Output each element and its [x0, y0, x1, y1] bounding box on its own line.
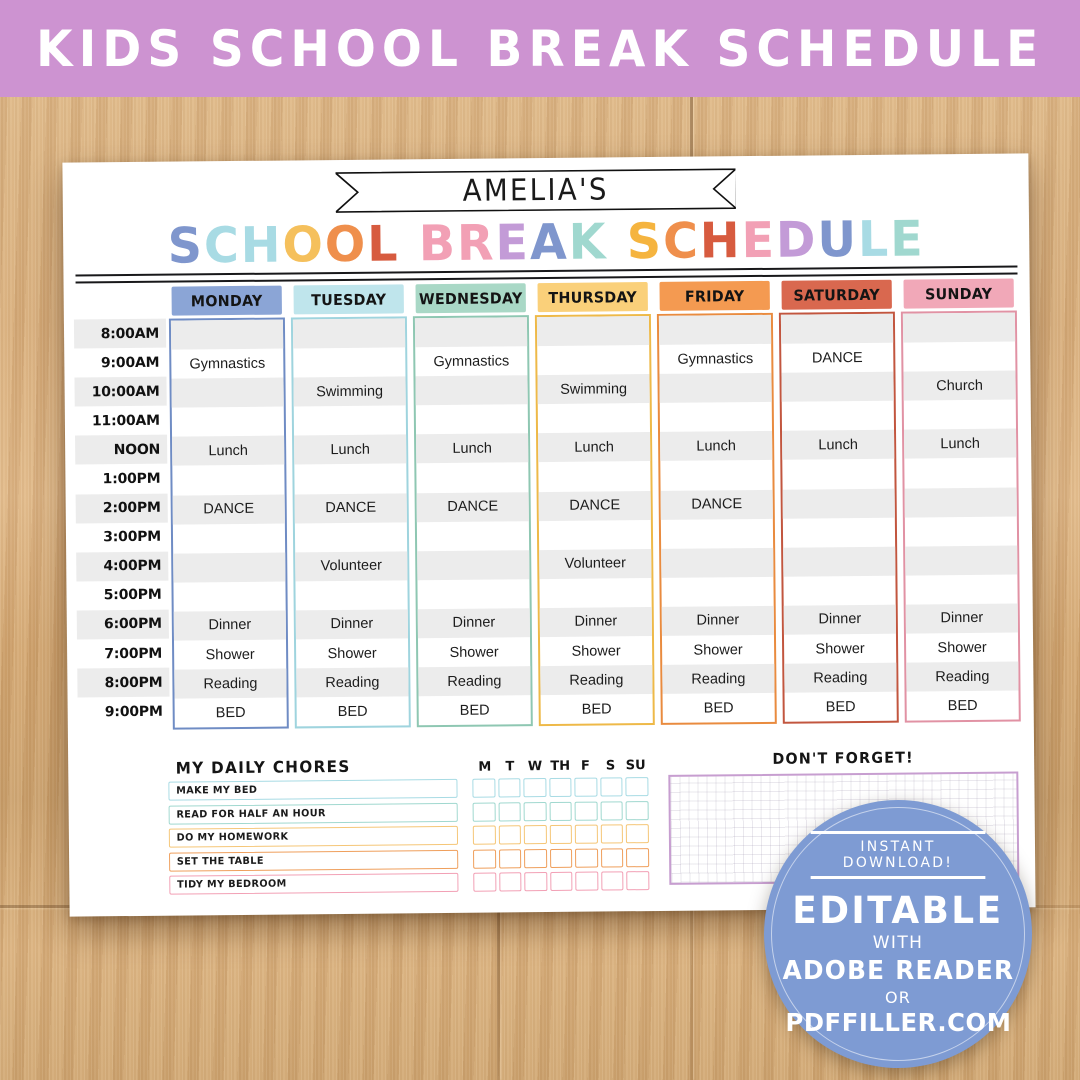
badge-or: OR [885, 988, 911, 1007]
schedule-cell[interactable]: Swimming [537, 374, 649, 404]
time-label-6: 2:00PM [76, 493, 168, 523]
time-label-12: 8:00PM [77, 668, 169, 698]
schedule-cell[interactable]: DANCE [295, 493, 407, 523]
chore-checkbox-1-th[interactable] [549, 802, 572, 821]
title-letter-7: B [419, 215, 458, 272]
schedule-cell[interactable] [294, 464, 406, 494]
chore-checkbox-2-f[interactable] [575, 825, 598, 844]
schedule-cell[interactable] [295, 580, 407, 610]
chore-checkbox-2-th[interactable] [550, 825, 573, 844]
schedule-cell[interactable]: Swimming [293, 377, 405, 407]
schedule-cell[interactable] [783, 517, 895, 547]
schedule-cell[interactable]: DANCE [417, 492, 529, 522]
schedule-cell[interactable] [173, 581, 285, 611]
schedule-cell[interactable]: Reading [418, 666, 530, 696]
schedule-cell[interactable] [782, 459, 894, 489]
chore-checkbox-3-su[interactable] [626, 848, 649, 867]
schedule-cell[interactable] [539, 578, 651, 608]
schedule-cell[interactable] [293, 347, 405, 377]
time-label-0: 8:00AM [74, 319, 166, 349]
time-label-7: 3:00PM [76, 522, 168, 552]
day-column-friday: GymnasticsLunchDANCEDinnerShowerReadingB… [657, 313, 777, 725]
chore-checkbox-group [473, 801, 649, 822]
day-header-wednesday[interactable]: WEDNESDAY [415, 283, 525, 313]
day-header-friday[interactable]: FRIDAY [659, 281, 769, 311]
chore-label-0[interactable]: MAKE MY BED [168, 779, 457, 801]
schedule-cell[interactable] [781, 372, 893, 402]
chore-checkbox-0-t[interactable] [498, 779, 521, 798]
schedule-cell[interactable] [538, 403, 650, 433]
schedule-cell[interactable] [172, 465, 284, 495]
chore-checkbox-3-w[interactable] [524, 849, 547, 868]
schedule-cell[interactable] [660, 460, 772, 490]
schedule-cell[interactable]: Reading [174, 669, 286, 699]
schedule-cell[interactable]: Dinner [418, 608, 530, 638]
schedule-cell[interactable] [659, 373, 771, 403]
title-letter-5: L [367, 215, 400, 272]
chore-row: MAKE MY BED [168, 777, 648, 801]
day-header-thursday[interactable]: THURSDAY [537, 282, 647, 312]
top-banner-title: KIDS SCHOOL BREAK SCHEDULE [36, 20, 1044, 78]
schedule-cell[interactable]: Dinner [296, 609, 408, 639]
badge-pdffiller-site: PDFFILLER.COM [785, 1008, 1011, 1037]
schedule-cell[interactable] [416, 404, 528, 434]
time-header-spacer [74, 287, 166, 317]
schedule-cell[interactable]: Gymnastics [171, 349, 283, 379]
chore-day-label-t: T [497, 759, 522, 774]
schedule-cell[interactable]: BED [663, 693, 775, 723]
title-letter-4: O [325, 216, 368, 273]
chore-checkbox-0-s[interactable] [600, 778, 623, 797]
title-letter-13: S [627, 213, 664, 270]
schedule-cell[interactable] [171, 320, 283, 350]
title-letter-9: E [495, 214, 530, 271]
chore-checkbox-1-m[interactable] [473, 802, 496, 821]
chore-label-1[interactable]: READ FOR HALF AN HOUR [169, 803, 458, 825]
schedule-cell[interactable]: Lunch [782, 430, 894, 460]
schedule-cell[interactable]: Dinner [540, 607, 652, 637]
chore-row: READ FOR HALF AN HOUR [169, 801, 649, 825]
schedule-cell[interactable]: BED [419, 695, 531, 725]
schedule-cell[interactable]: Dinner [174, 610, 286, 640]
chores-rows: MAKE MY BEDREAD FOR HALF AN HOURDO MY HO… [168, 777, 649, 894]
day-header-sunday[interactable]: SUNDAY [903, 279, 1013, 309]
title-letter-3: O [282, 216, 325, 273]
chore-day-label-m: M [472, 760, 497, 775]
schedule-cell[interactable] [661, 577, 773, 607]
schedule-cell[interactable]: Lunch [660, 431, 772, 461]
chore-checkbox-3-s[interactable] [601, 848, 624, 867]
instant-download-badge: INSTANT DOWNLOAD! EDITABLE WITH ADOBE RE… [764, 800, 1032, 1068]
schedule-cell[interactable]: Lunch [904, 429, 1016, 459]
schedule-cell[interactable]: Lunch [294, 435, 406, 465]
chore-checkbox-0-m[interactable] [472, 779, 495, 798]
schedule-cell[interactable]: Gymnastics [659, 344, 771, 374]
schedule-cell[interactable] [537, 316, 649, 346]
chore-checkbox-2-su[interactable] [626, 824, 649, 843]
day-column-wednesday: GymnasticsLunchDANCEDinnerShowerReadingB… [413, 315, 533, 727]
schedule-cell[interactable] [417, 521, 529, 551]
schedule-cell[interactable] [171, 378, 283, 408]
schedule-cell[interactable]: DANCE [781, 343, 893, 373]
schedule-cell[interactable]: Shower [174, 640, 286, 670]
chore-label-2[interactable]: DO MY HOMEWORK [169, 826, 458, 848]
chore-label-3[interactable]: SET THE TABLE [169, 849, 458, 871]
screenshot-root: KIDS SCHOOL BREAK SCHEDULE AMELIA'S SCHO… [0, 0, 1080, 1080]
schedule-cell[interactable] [173, 552, 285, 582]
title-letter-8: R [457, 215, 496, 272]
title-letter-0: S [167, 217, 204, 274]
schedule-cell[interactable]: Dinner [662, 606, 774, 636]
time-column: 8:00AM9:00AM10:00AM11:00AMNOON1:00PM2:00… [74, 319, 170, 731]
title-letter-10: A [530, 214, 569, 271]
schedule-cell[interactable] [295, 522, 407, 552]
chore-checkbox-group [472, 777, 648, 798]
schedule-cell[interactable]: Shower [540, 636, 652, 666]
time-label-11: 7:00PM [77, 639, 169, 669]
schedule-body: 8:00AM9:00AM10:00AM11:00AMNOON1:00PM2:00… [74, 310, 1024, 730]
chore-day-label-f: F [573, 759, 598, 774]
chores-title: MY DAILY CHORES [176, 756, 461, 778]
chore-checkbox-2-s[interactable] [601, 824, 624, 843]
chore-day-label-th: TH [548, 759, 573, 774]
chore-row: DO MY HOMEWORK [169, 824, 649, 848]
chore-checkbox-4-f[interactable] [576, 871, 599, 890]
time-label-1: 9:00AM [74, 348, 166, 378]
chore-checkbox-group [473, 871, 649, 892]
chore-day-label-s: S [598, 758, 623, 773]
schedule-cell[interactable]: BED [907, 691, 1019, 721]
time-label-5: 1:00PM [75, 464, 167, 494]
badge-adobe-reader: ADOBE READER [782, 956, 1014, 986]
name-ribbon: AMELIA'S [336, 168, 736, 213]
top-banner: KIDS SCHOOL BREAK SCHEDULE [0, 0, 1080, 97]
schedule-cell[interactable]: Dinner [906, 603, 1018, 633]
chore-checkbox-2-t[interactable] [498, 825, 521, 844]
chore-day-label-su: SU [623, 758, 648, 773]
schedule-cell[interactable] [781, 314, 893, 344]
schedule-cell[interactable]: Lunch [172, 436, 284, 466]
chore-checkbox-1-s[interactable] [600, 801, 623, 820]
chore-day-label-w: W [522, 759, 547, 774]
schedule-cell[interactable] [905, 487, 1017, 517]
chore-checkbox-3-m[interactable] [473, 849, 496, 868]
schedule-cell[interactable] [905, 545, 1017, 575]
day-header-monday[interactable]: MONDAY [171, 286, 281, 316]
schedule-cell[interactable]: DANCE [661, 489, 773, 519]
chore-checkbox-0-w[interactable] [523, 778, 546, 797]
chore-checkbox-4-t[interactable] [499, 872, 522, 891]
schedule-cell[interactable]: Shower [662, 635, 774, 665]
schedule-cell[interactable]: DANCE [539, 491, 651, 521]
time-label-4: NOON [75, 435, 167, 465]
time-label-8: 4:00PM [76, 551, 168, 581]
schedule-cell[interactable] [417, 579, 529, 609]
chore-checkbox-3-f[interactable] [575, 848, 598, 867]
schedule-cell[interactable] [294, 406, 406, 436]
schedule-cell[interactable]: Gymnastics [415, 346, 527, 376]
schedule-cell[interactable]: Reading [540, 665, 652, 695]
day-column-tuesday: SwimmingLunchDANCEVolunteerDinnerShowerR… [291, 316, 411, 728]
chore-checkbox-1-su[interactable] [626, 801, 649, 820]
schedule-cell[interactable]: BED [175, 698, 287, 728]
schedule-cell[interactable]: Reading [784, 663, 896, 693]
schedule-cell[interactable]: Shower [906, 633, 1018, 663]
schedule-cell[interactable] [539, 520, 651, 550]
badge-with: WITH [873, 933, 924, 953]
schedule-cell[interactable] [172, 407, 284, 437]
chore-label-4[interactable]: TIDY MY BEDROOM [169, 873, 458, 895]
plank-seam-vertical-lower [497, 905, 500, 1080]
chore-checkbox-2-w[interactable] [524, 825, 547, 844]
schedule-cell[interactable] [659, 315, 771, 345]
chore-checkbox-0-th[interactable] [549, 778, 572, 797]
dont-forget-title: DON'T FORGET! [677, 748, 1010, 772]
schedule-cell[interactable] [783, 488, 895, 518]
badge-editable: EDITABLE [792, 889, 1003, 932]
time-label-13: 9:00PM [78, 697, 170, 727]
schedule-cell[interactable] [661, 548, 773, 578]
schedule-cell[interactable]: Reading [906, 662, 1018, 692]
schedule-cell[interactable] [416, 463, 528, 493]
planner-title: SCHOOLBREAKSCHEDULE [77, 210, 1015, 276]
schedule-cell[interactable] [415, 375, 527, 405]
schedule-cell[interactable]: Shower [784, 634, 896, 664]
chore-checkbox-3-t[interactable] [499, 849, 522, 868]
chore-checkbox-4-s[interactable] [601, 871, 624, 890]
schedule-cell[interactable] [293, 318, 405, 348]
day-column-sunday: ChurchLunchDinnerShowerReadingBED [901, 310, 1021, 722]
schedule-cell[interactable]: Reading [296, 667, 408, 697]
title-letter-2: H [240, 217, 282, 274]
schedule-cell[interactable] [661, 519, 773, 549]
schedule-cell[interactable] [905, 516, 1017, 546]
schedule-cell[interactable]: BED [297, 697, 409, 727]
day-column-thursday: SwimmingLunchDANCEVolunteerDinnerShowerR… [535, 314, 655, 726]
chores-day-labels: MTWTHFSSU [472, 758, 648, 775]
chore-checkbox-0-f[interactable] [575, 778, 598, 797]
schedule-cell[interactable] [904, 400, 1016, 430]
schedule-cell[interactable] [903, 342, 1015, 372]
schedule-cell[interactable] [782, 401, 894, 431]
schedule-cell[interactable]: BED [785, 692, 897, 722]
schedule-cell[interactable] [904, 458, 1016, 488]
title-letter-16: E [741, 212, 776, 269]
schedule-cell[interactable]: Lunch [416, 434, 528, 464]
schedule-cell[interactable] [417, 550, 529, 580]
chore-checkbox-4-m[interactable] [473, 872, 496, 891]
chore-checkbox-1-f[interactable] [575, 801, 598, 820]
time-label-9: 5:00PM [76, 580, 168, 610]
schedule-cell[interactable]: Shower [418, 637, 530, 667]
day-header-tuesday[interactable]: TUESDAY [293, 284, 403, 314]
chore-checkbox-1-w[interactable] [524, 802, 547, 821]
chore-checkbox-group [473, 848, 649, 869]
chore-checkbox-3-th[interactable] [550, 848, 573, 867]
schedule-cell[interactable] [537, 345, 649, 375]
schedule-cell[interactable]: Lunch [538, 432, 650, 462]
schedule-cell[interactable]: Shower [296, 638, 408, 668]
schedule-cell[interactable]: Volunteer [539, 549, 651, 579]
schedule-cell[interactable] [905, 574, 1017, 604]
chore-checkbox-4-th[interactable] [550, 872, 573, 891]
owner-name: AMELIA'S [352, 168, 720, 213]
chore-checkbox-1-t[interactable] [498, 802, 521, 821]
chores-header: MY DAILY CHORES MTWTHFSSU [168, 751, 648, 778]
title-letter-18: U [817, 211, 858, 268]
time-label-2: 10:00AM [74, 377, 166, 407]
title-letter-20: E [890, 210, 925, 267]
schedule-cell[interactable]: Church [903, 371, 1015, 401]
schedule-cell[interactable] [538, 461, 650, 491]
chore-checkbox-group [473, 824, 649, 845]
schedule-cell[interactable] [783, 546, 895, 576]
title-letter-19: L [858, 211, 891, 268]
schedule-cell[interactable]: Reading [662, 664, 774, 694]
chore-checkbox-0-su[interactable] [626, 777, 649, 796]
chore-checkbox-4-w[interactable] [524, 872, 547, 891]
chore-checkbox-4-su[interactable] [627, 871, 650, 890]
schedule-cell[interactable] [660, 402, 772, 432]
schedule-cell[interactable] [903, 313, 1015, 343]
schedule-cell[interactable] [783, 576, 895, 606]
schedule-cell[interactable]: DANCE [173, 494, 285, 524]
title-letter-11: K [568, 213, 607, 270]
chore-row: SET THE TABLE [169, 848, 649, 872]
day-column-saturday: DANCELunchDinnerShowerReadingBED [779, 312, 899, 724]
time-label-10: 6:00PM [77, 610, 169, 640]
chores-section: MY DAILY CHORES MTWTHFSSU MAKE MY BEDREA… [168, 751, 649, 895]
schedule-grid: MONDAYTUESDAYWEDNESDAYTHURSDAYFRIDAYSATU… [74, 278, 1024, 730]
title-letter-1: C [204, 217, 241, 274]
schedule-cell[interactable]: BED [541, 694, 653, 724]
chore-checkbox-2-m[interactable] [473, 826, 496, 845]
schedule-cell[interactable] [415, 317, 527, 347]
schedule-cell[interactable] [173, 523, 285, 553]
schedule-cell[interactable]: Volunteer [295, 551, 407, 581]
title-letter-17: D [776, 211, 818, 268]
chore-row: TIDY MY BEDROOM [169, 871, 649, 895]
day-header-saturday[interactable]: SATURDAY [781, 280, 891, 310]
badge-instant-download: INSTANT DOWNLOAD! [811, 831, 986, 879]
time-label-3: 11:00AM [75, 406, 167, 436]
title-letter-15: H [700, 212, 742, 269]
title-letter-14: C [663, 213, 700, 270]
schedule-cell[interactable]: Dinner [784, 605, 896, 635]
day-column-monday: GymnasticsLunchDANCEDinnerShowerReadingB… [169, 318, 289, 730]
